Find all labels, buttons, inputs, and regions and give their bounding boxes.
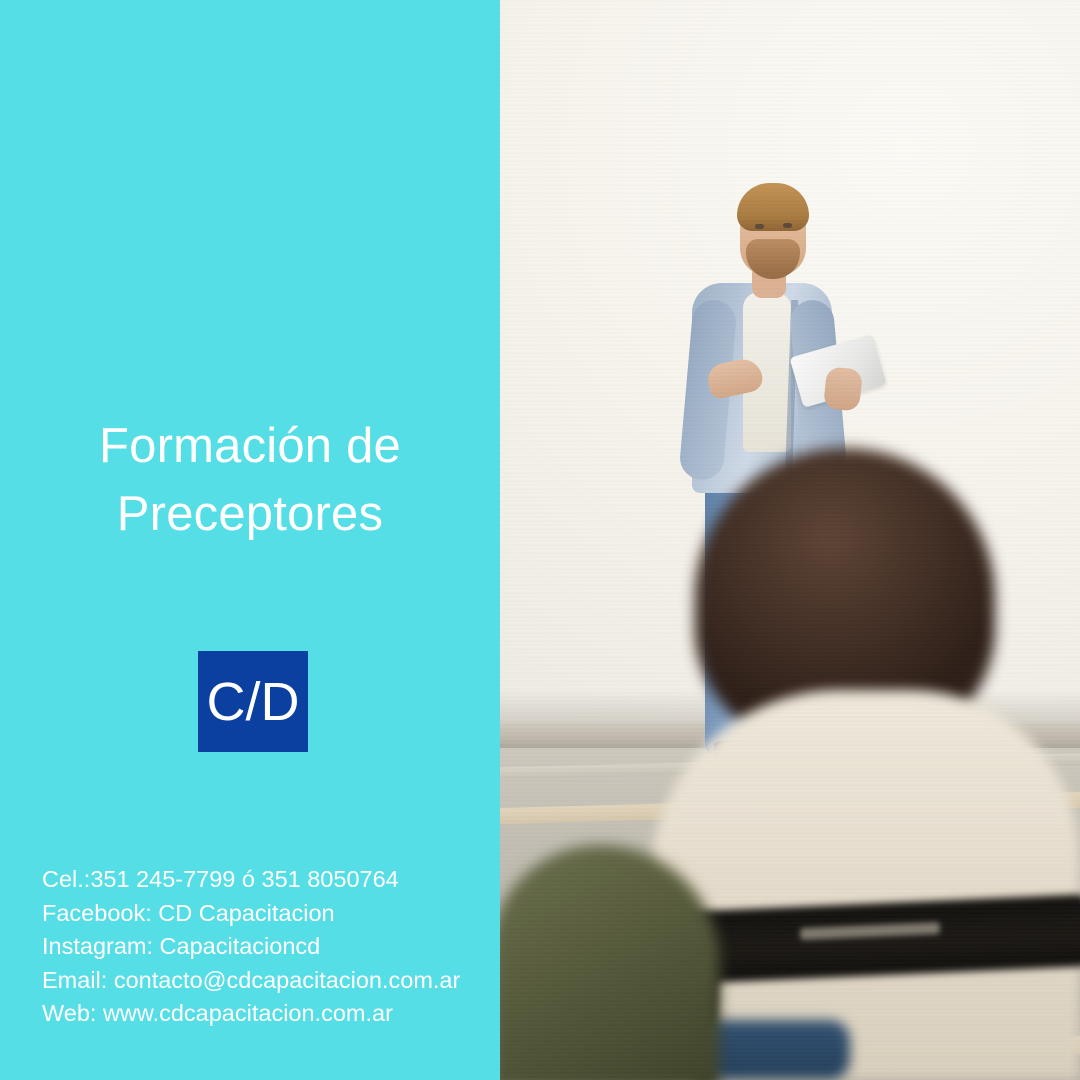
title-line-2: Preceptores bbox=[0, 480, 500, 548]
cd-logo: C/D bbox=[198, 651, 308, 752]
seated-person-jeans bbox=[700, 1020, 850, 1080]
page-title: Formación de Preceptores bbox=[0, 412, 500, 548]
contact-email: Email: contacto@cdcapacitacion.com.ar bbox=[42, 964, 492, 998]
cyan-info-panel: Formación de Preceptores C/D Cel.:351 24… bbox=[0, 0, 500, 1080]
foreground-audience bbox=[500, 0, 1080, 1080]
promotional-poster: Formación de Preceptores C/D Cel.:351 24… bbox=[0, 0, 1080, 1080]
contact-web: Web: www.cdcapacitacion.com.ar bbox=[42, 997, 492, 1031]
contact-phone: Cel.:351 245-7799 ó 351 8050764 bbox=[42, 863, 492, 897]
contact-instagram: Instagram: Capacitacioncd bbox=[42, 930, 492, 964]
classroom-photo bbox=[500, 0, 1080, 1080]
contact-info-block: Cel.:351 245-7799 ó 351 8050764 Facebook… bbox=[42, 863, 492, 1031]
contact-facebook: Facebook: CD Capacitacion bbox=[42, 897, 492, 931]
cd-logo-text: C/D bbox=[207, 675, 300, 729]
title-line-1: Formación de bbox=[0, 412, 500, 480]
